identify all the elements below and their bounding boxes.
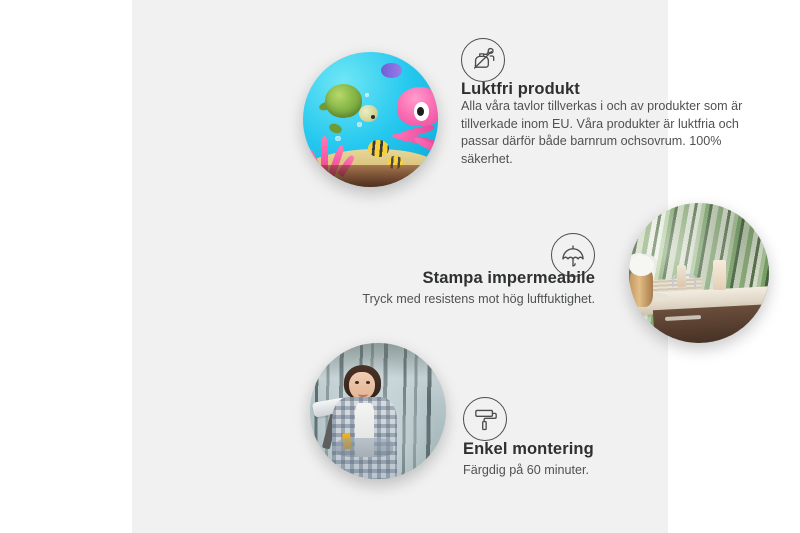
forest-scene — [310, 343, 446, 479]
woman-eye — [355, 381, 359, 384]
sea-illustration — [303, 52, 438, 187]
woman-smile — [358, 391, 369, 397]
wood-vanity-cabinet — [653, 303, 769, 343]
white-flower — [629, 255, 654, 276]
purple-fish-icon — [381, 63, 401, 78]
feature-1-body: Alla våra tavlor tillverkas i och av pro… — [461, 98, 743, 168]
soap-bottle — [677, 265, 687, 287]
feature-1-title: Luktfri produkt — [461, 80, 580, 99]
turtle-eye — [371, 115, 375, 119]
paint-roller-icon — [463, 397, 507, 441]
feature-2-title: Stampa impermeabile — [251, 269, 595, 288]
underwater-sea-creatures-photo — [303, 52, 438, 187]
feature-3-title: Enkel montering — [463, 440, 594, 459]
feature-2-body: Tryck med resistens mot hög luftfuktighe… — [251, 291, 595, 309]
photo-bottom-shade — [303, 165, 438, 187]
turtle-shell — [325, 84, 363, 118]
no-odour-spray-bottle-icon — [461, 38, 505, 82]
bathroom-scene — [629, 203, 769, 343]
octopus-illustration — [384, 87, 438, 149]
product-feature-infographic: Luktfri produkt Alla våra tavlor tillver… — [0, 0, 800, 533]
content-panel: Luktfri produkt Alla våra tavlor tillver… — [132, 0, 668, 533]
woman-eye — [366, 381, 370, 384]
bathroom-vanity-leaf-wallpaper-photo — [629, 203, 769, 343]
turtle-illustration — [319, 84, 373, 127]
cabinet-handle — [755, 338, 759, 343]
soap-bottle — [713, 260, 726, 289]
woman-with-paint-roller-forest-photo — [310, 343, 446, 479]
turtle-head — [359, 105, 377, 122]
feature-3-body: Färgdig på 60 minuter. — [463, 462, 589, 480]
woman-crossed-arms — [336, 438, 393, 457]
